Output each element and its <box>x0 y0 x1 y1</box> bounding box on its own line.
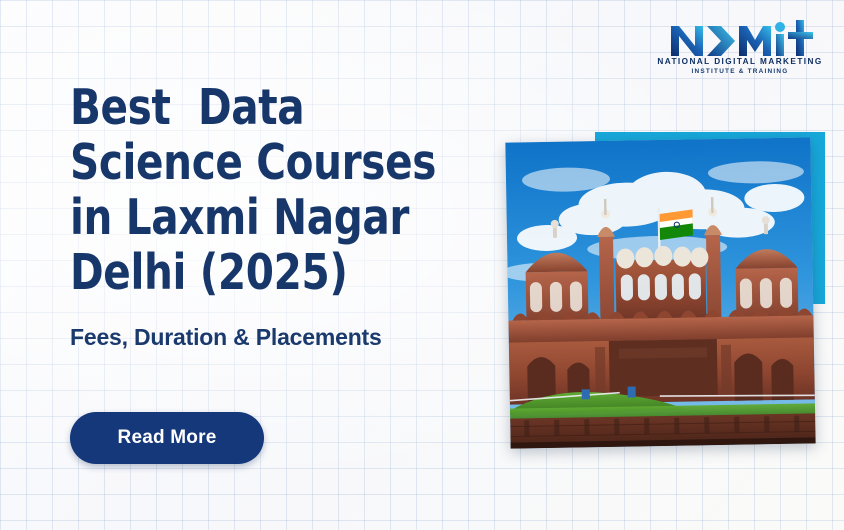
read-more-button[interactable]: Read More <box>70 412 264 464</box>
logo-tagline-line2: INSTITUTE & TRAINING <box>691 68 788 75</box>
promo-banner: NATIONAL DIGITAL MARKETING INSTITUTE & T… <box>0 0 844 530</box>
subtitle: Fees, Duration & Placements <box>70 324 382 351</box>
headline-line-4: Delhi (2025) <box>70 245 436 300</box>
headline-block: Best Data Science Courses in Laxmi Nagar… <box>70 80 468 300</box>
ndmit-logo-icon <box>665 16 815 58</box>
headline-line-1: Best Data <box>70 80 436 135</box>
headline-line-3: in Laxmi Nagar <box>70 190 436 245</box>
logo-tagline-line1: NATIONAL DIGITAL MARKETING <box>657 57 822 66</box>
headline-line-2: Science Courses <box>70 135 436 190</box>
red-fort-illustration <box>505 137 815 448</box>
brand-logo[interactable]: NATIONAL DIGITAL MARKETING INSTITUTE & T… <box>660 16 820 88</box>
red-fort-image <box>505 137 815 448</box>
media-block <box>495 122 835 458</box>
red-fort-photo <box>505 137 815 448</box>
